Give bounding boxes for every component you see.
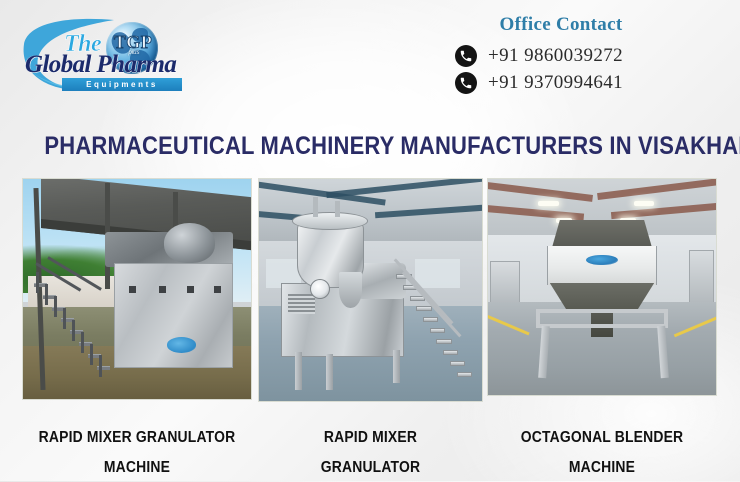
gallery-caption-3: OCTAGONAL BLENDER MACHINE [502, 423, 702, 482]
gallery-item-1[interactable] [22, 178, 252, 400]
gallery-caption-2: RAPID MIXER GRANULATOR [273, 423, 469, 482]
contact-phone-row-1[interactable]: +91 9860039272 [442, 45, 692, 67]
logo-tgp-subtext: plus [114, 50, 154, 56]
phone-icon [455, 45, 477, 67]
product-image-octagonal-blender-machine [487, 178, 717, 396]
contact-phone-number-2[interactable]: +91 9370994641 [488, 72, 623, 94]
product-image-rapid-mixer-granulator [258, 178, 483, 402]
product-image-rapid-mixer-granulator-machine [22, 178, 252, 400]
page-header: TGP plus The Global Pharma Equipments Of… [0, 0, 740, 118]
gallery-captions: RAPID MIXER GRANULATOR MACHINE RAPID MIX… [0, 412, 740, 481]
brand-logo[interactable]: TGP plus The Global Pharma Equipments [18, 10, 198, 95]
contact-phone-number-1[interactable]: +91 9860039272 [488, 45, 623, 67]
gallery-item-3[interactable] [487, 178, 717, 396]
office-contact-title: Office Contact [442, 14, 692, 36]
gallery-caption-1: RAPID MIXER GRANULATOR MACHINE [37, 423, 237, 482]
office-contact-block: Office Contact +91 9860039272 +91 937099… [442, 14, 692, 99]
contact-phone-row-2[interactable]: +91 9370994641 [442, 72, 692, 94]
page-title: PHARMACEUTICAL MACHINERY MANUFACTURERS I… [44, 132, 695, 161]
phone-icon [455, 72, 477, 94]
gallery-item-2[interactable] [258, 178, 483, 402]
logo-equipments-bar: Equipments [62, 78, 182, 91]
product-gallery [0, 178, 740, 408]
logo-equipments-text: Equipments [62, 78, 182, 91]
